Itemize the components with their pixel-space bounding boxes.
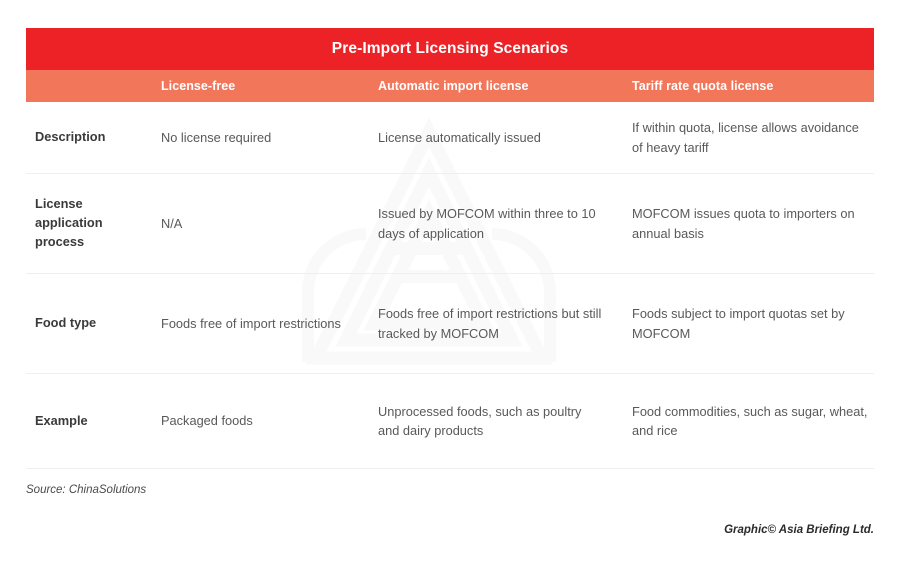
cell-description-license-free: No license required: [146, 128, 351, 147]
pre-import-licensing-table: Pre-Import Licensing Scenarios License-f…: [26, 28, 874, 469]
cell-example-license-free: Packaged foods: [146, 411, 351, 430]
row-label-example: Example: [26, 412, 146, 431]
row-label-food-type: Food type: [26, 314, 146, 333]
infographic-canvas: Pre-Import Licensing Scenarios License-f…: [0, 0, 900, 564]
table-row: Description No license required License …: [26, 102, 874, 174]
column-header-license-free: License-free: [146, 79, 351, 93]
cell-food-type-automatic-import-license: Foods free of import restrictions but st…: [351, 304, 606, 343]
source-note: Source: ChinaSolutions: [26, 484, 146, 496]
table-row: License application process N/A Issued b…: [26, 174, 874, 274]
table-row: Example Packaged foods Unprocessed foods…: [26, 374, 874, 469]
column-header-automatic-import-license: Automatic import license: [351, 79, 606, 93]
row-label-license-application-process: License application process: [26, 195, 146, 252]
cell-description-tariff-rate-quota-license: If within quota, license allows avoidanc…: [606, 118, 869, 157]
cell-food-type-tariff-rate-quota-license: Foods subject to import quotas set by MO…: [606, 304, 869, 343]
page-title: Pre-Import Licensing Scenarios: [332, 40, 568, 58]
table-body: Description No license required License …: [26, 102, 874, 469]
cell-food-type-license-free: Foods free of import restrictions: [146, 314, 351, 333]
cell-license-application-process-license-free: N/A: [146, 214, 351, 233]
table-title-bar: Pre-Import Licensing Scenarios: [26, 28, 874, 70]
cell-example-tariff-rate-quota-license: Food commodities, such as sugar, wheat, …: [606, 402, 869, 441]
column-header-row: License-free Automatic import license Ta…: [26, 70, 874, 102]
row-label-description: Description: [26, 128, 146, 147]
column-header-tariff-rate-quota-license: Tariff rate quota license: [606, 79, 869, 93]
cell-description-automatic-import-license: License automatically issued: [351, 128, 606, 147]
graphic-credit: Graphic© Asia Briefing Ltd.: [724, 524, 874, 536]
table-row: Food type Foods free of import restricti…: [26, 274, 874, 374]
cell-license-application-process-automatic-import-license: Issued by MOFCOM within three to 10 days…: [351, 204, 606, 243]
cell-example-automatic-import-license: Unprocessed foods, such as poultry and d…: [351, 402, 606, 441]
cell-license-application-process-tariff-rate-quota-license: MOFCOM issues quota to importers on annu…: [606, 204, 869, 243]
footer: Source: ChinaSolutions Graphic© Asia Bri…: [26, 480, 874, 498]
